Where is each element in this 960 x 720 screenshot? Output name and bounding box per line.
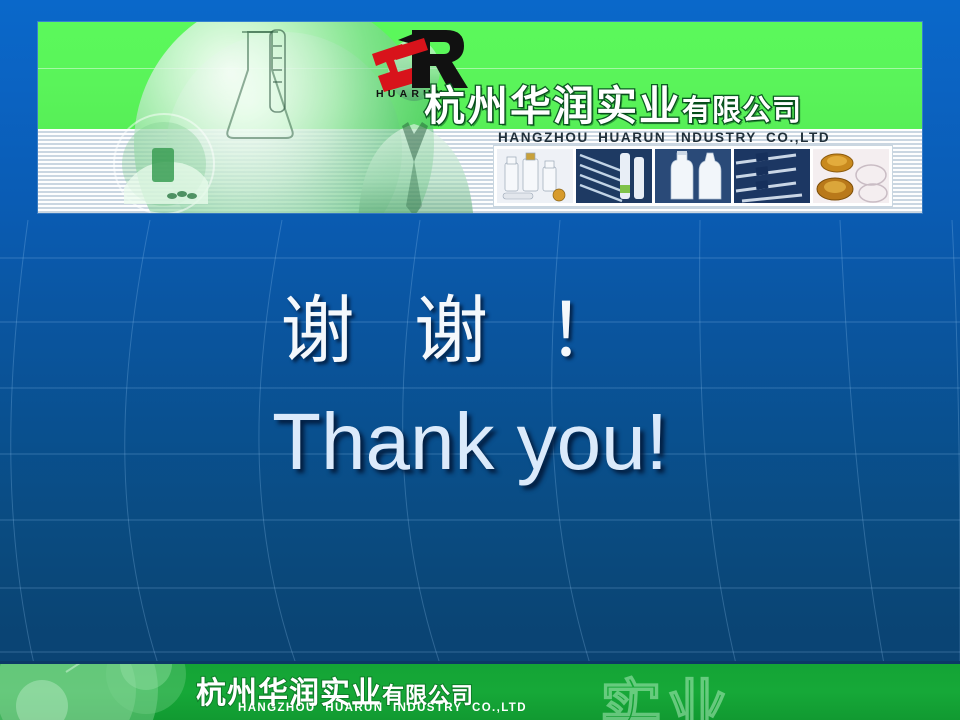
footer-watermark-text: 实业	[600, 664, 732, 720]
company-header-banner: HUARUN 杭州华润实业有限公司 HANGZHOU HUARUN INDUST…	[38, 22, 922, 213]
company-name-english: HANGZHOU HUARUN INDUSTRY CO.,LTD	[498, 130, 830, 145]
product-tile-spray-bottles	[497, 149, 573, 203]
hand-holding-sample-graphic	[90, 110, 240, 213]
company-footer-banner: 实业 杭州华润实业有限公司 HANGZHOU HUARUN INDUSTRY C…	[0, 664, 960, 720]
company-name-cn-suffix: 有限公司	[682, 93, 802, 127]
product-tile-syringes	[734, 149, 810, 203]
company-name-cn-main: 杭州华润实业	[424, 82, 682, 130]
product-tile-glass-jars	[813, 149, 889, 203]
company-name-chinese: 杭州华润实业有限公司	[424, 72, 802, 132]
product-photo-strip	[493, 145, 893, 207]
thank-you-chinese-heading: 谢 谢 ！	[0, 294, 920, 368]
product-tile-plastic-bottles	[655, 149, 731, 203]
slide-canvas: HUARUN 杭州华润实业有限公司 HANGZHOU HUARUN INDUST…	[0, 0, 960, 720]
thank-you-english-heading: Thank you!	[0, 402, 940, 482]
product-tile-pipettes	[576, 149, 652, 203]
footer-company-name-english: HANGZHOU HUARUN INDUSTRY CO.,LTD	[238, 702, 527, 714]
